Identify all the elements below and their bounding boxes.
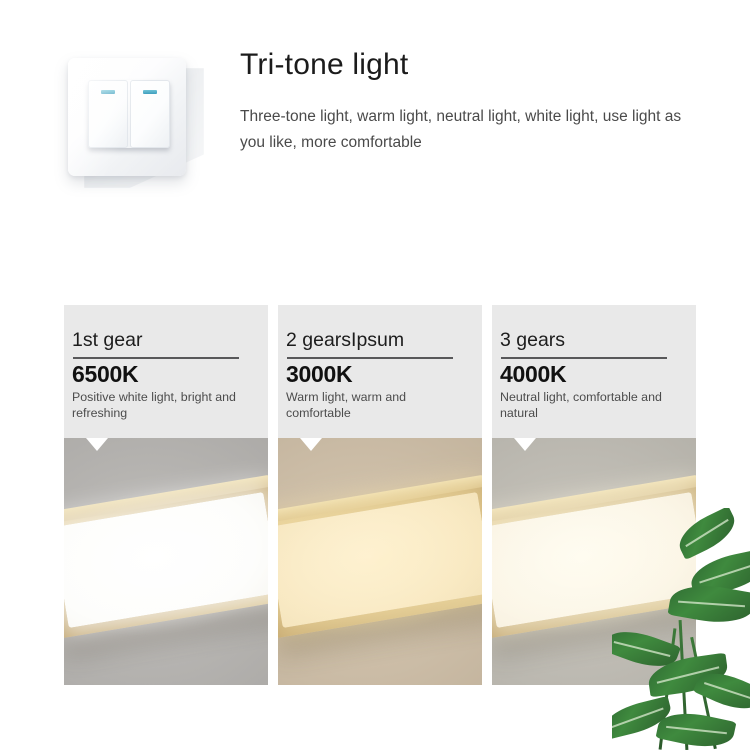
switch-faceplate — [68, 58, 186, 176]
kelvin-value: 4000K — [500, 361, 684, 388]
gear-label: 3 gears — [500, 329, 684, 351]
divider — [73, 357, 239, 359]
plant-leaf — [673, 508, 742, 560]
page-subtitle: Three-tone light, warm light, neutral li… — [240, 104, 690, 156]
banana-leaf-plant — [612, 508, 750, 750]
page-title: Tri-tone light — [240, 48, 408, 82]
tone-comparison-row: 1st gear 6500K Positive white light, bri… — [64, 305, 696, 685]
wall-switch-icon — [60, 52, 210, 202]
tone-description: Positive white light, bright and refresh… — [72, 389, 256, 421]
tone-card-2: 2 gearsIpsum 3000K Warm light, warm and … — [278, 305, 482, 438]
kelvin-value: 6500K — [72, 361, 256, 388]
tone-photo-1 — [64, 438, 268, 685]
led-indicator-icon — [101, 90, 115, 94]
header-section: Tri-tone light Three-tone light, warm li… — [0, 0, 750, 290]
divider — [501, 357, 667, 359]
divider — [287, 357, 453, 359]
switch-rocker-left — [88, 80, 128, 148]
pointer-notch-icon — [300, 438, 322, 451]
gear-label: 1st gear — [72, 329, 256, 351]
tone-card-1: 1st gear 6500K Positive white light, bri… — [64, 305, 268, 438]
tone-column-1: 1st gear 6500K Positive white light, bri… — [64, 305, 268, 685]
switch-rocker-right — [130, 80, 170, 148]
tone-photo-2 — [278, 438, 482, 685]
product-infographic: Tri-tone light Three-tone light, warm li… — [0, 0, 750, 750]
tone-card-3: 3 gears 4000K Neutral light, comfortable… — [492, 305, 696, 438]
tone-description: Neutral light, comfortable and natural — [500, 389, 684, 421]
kelvin-value: 3000K — [286, 361, 470, 388]
led-indicator-icon — [143, 90, 157, 94]
gear-label: 2 gearsIpsum — [286, 329, 470, 351]
tone-column-2: 2 gearsIpsum 3000K Warm light, warm and … — [278, 305, 482, 685]
tone-description: Warm light, warm and comfortable — [286, 389, 470, 421]
switch-rocker-group — [88, 80, 170, 148]
pointer-notch-icon — [86, 438, 108, 451]
pointer-notch-icon — [514, 438, 536, 451]
